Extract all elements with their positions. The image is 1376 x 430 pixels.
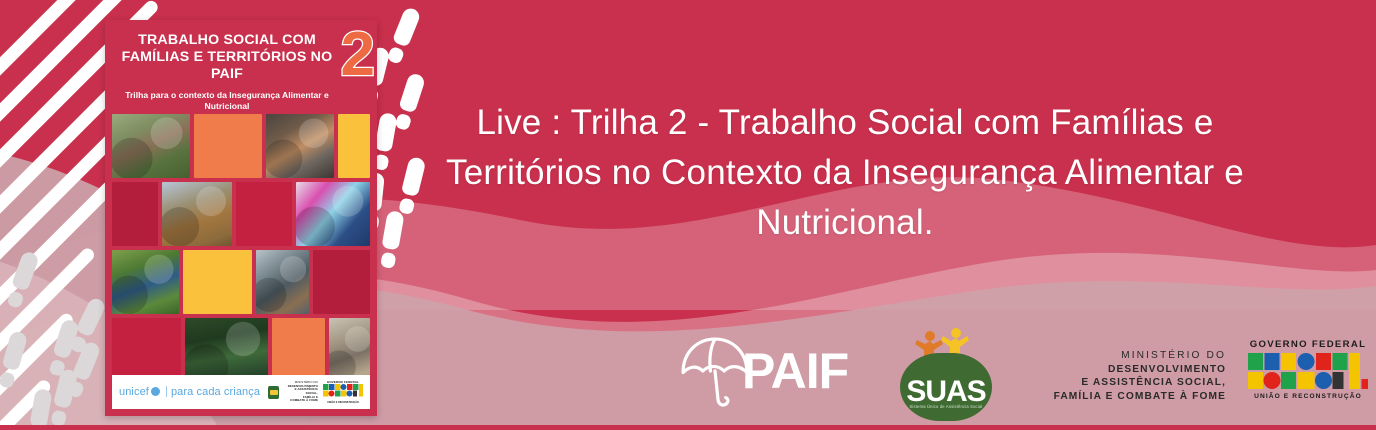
suas-subtitle: Sistema Único de Assistência Social [900, 404, 992, 409]
suas-disc: SUAS Sistema Único de Assistência Social [900, 353, 992, 421]
gov-federal-label: GOVERNO FEDERAL [1246, 339, 1370, 350]
ministry-line-1: MINISTÉRIO DO [1028, 349, 1226, 363]
live-event-banner: 2 TRABALHO SOCIAL COM FAMÍLIAS E TERRITÓ… [0, 0, 1376, 430]
gov-federal-tagline: UNIÃO E RECONSTRUÇÃO [1246, 393, 1370, 400]
ministry-logo-text: MINISTÉRIO DO DESENVOLVIMENTO E ASSISTÊN… [1028, 349, 1226, 403]
paif-wordmark: PAIF [742, 345, 848, 397]
aerial-community-photo [112, 114, 190, 178]
mosaic-row [112, 114, 370, 178]
mosaic-row [112, 182, 370, 246]
page-title: Live : Trilha 2 - Trabalho Social com Fa… [395, 98, 1295, 248]
yellow-tile [338, 114, 370, 178]
cover-subtitle: Trilha para o contexto da Insegurança Al… [115, 90, 367, 112]
brasil-blocks-icon [1248, 353, 1368, 391]
partner-logo-row: PAIF SUAS Sistema Único de Assistência S… [0, 325, 1376, 425]
workers-photo [256, 250, 309, 314]
ministry-line-4: FAMÍLIA E COMBATE À FOME [1028, 390, 1226, 404]
gov-federal-logo[interactable]: GOVERNO FEDERAL UNIÃO E RECONSTRUÇÃO [1246, 339, 1370, 400]
orange-tile [194, 114, 262, 178]
suas-logo[interactable]: SUAS Sistema Único de Assistência Social [892, 327, 1000, 421]
trail-number-badge: 2 [341, 26, 373, 84]
graffiti-photo [296, 182, 370, 246]
yellow-tile [183, 250, 252, 314]
cover-title: TRABALHO SOCIAL COM FAMÍLIAS E TERRITÓRI… [115, 32, 367, 83]
crimson-tile [236, 182, 292, 246]
farming-photo [162, 182, 232, 246]
paif-logo[interactable]: PAIF [676, 333, 848, 409]
bottom-accent-bar [0, 425, 1376, 430]
cover-header: 2 TRABALHO SOCIAL COM FAMÍLIAS E TERRITÓ… [105, 20, 377, 118]
harvest-photo [112, 250, 179, 314]
ministry-line-2: DESENVOLVIMENTO [1028, 363, 1226, 377]
ministry-line-3: E ASSISTÊNCIA SOCIAL, [1028, 376, 1226, 390]
crimson-tile [112, 182, 158, 246]
water-hands-photo [266, 114, 334, 178]
mosaic-row [112, 250, 370, 314]
crimson-tile [313, 250, 370, 314]
